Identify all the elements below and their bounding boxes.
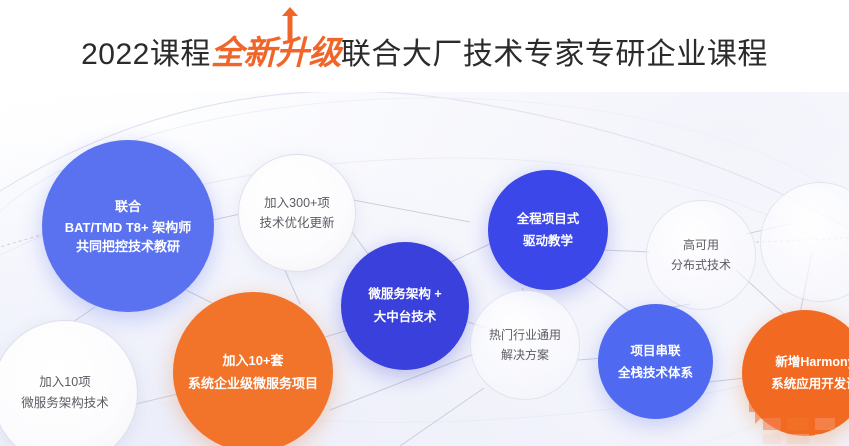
- node-300-tech-updates[interactable]: 加入300+项 技术优化更新: [238, 154, 356, 272]
- node-300-line1: 加入300+项: [264, 193, 330, 213]
- node-ha-line1: 高可用: [683, 235, 719, 255]
- node-project-line2: 驱动教学: [523, 231, 573, 251]
- node-msa-line2: 大中台技术: [374, 307, 437, 328]
- page-title: 2022课程全新升级 联合大厂技术专家专研企业课程: [0, 30, 849, 78]
- node-hot-line2: 解决方案: [501, 345, 549, 365]
- network-graph: 联合 BAT/TMD T8+ 架构师 共同把控技术教研 加入300+项 技术优化…: [0, 92, 849, 446]
- node-hot-line1: 热门行业通用: [489, 325, 561, 345]
- node-harmony-line2: 系统应用开发课: [771, 374, 849, 394]
- node-10item-line1: 加入10项: [39, 372, 90, 393]
- node-10item-line2: 微服务架构技术: [21, 393, 109, 414]
- node-harmony-line1: 新增Harmony: [771, 352, 849, 372]
- node-10set-line1: 加入10+套: [222, 350, 283, 371]
- node-fullstack-line2: 全栈技术体系: [618, 363, 693, 383]
- node-project-driven-teaching[interactable]: 全程项目式 驱动教学: [488, 170, 608, 290]
- node-bat-architects[interactable]: 联合 BAT/TMD T8+ 架构师 共同把控技术教研: [42, 140, 214, 312]
- node-fullstack-system[interactable]: 项目串联 全栈技术体系: [598, 304, 713, 419]
- node-high-availability[interactable]: 高可用 分布式技术: [646, 200, 756, 310]
- title-prefix: 2022课程: [81, 32, 211, 78]
- node-project-line1: 全程项目式: [517, 209, 580, 229]
- node-300-line2: 技术优化更新: [259, 213, 334, 233]
- promo-banner: 2022课程全新升级 联合大厂技术专家专研企业课程: [0, 0, 849, 446]
- node-bat-line2: BAT/TMD T8+ 架构师: [65, 218, 192, 237]
- node-industry-solutions[interactable]: 热门行业通用 解决方案: [470, 290, 580, 400]
- node-msa-line1: 微服务架构 +: [368, 284, 441, 305]
- title-suffix: 联合大厂技术专家专研企业课程: [341, 32, 768, 78]
- node-10set-line2: 系统企业级微服务项目: [188, 373, 318, 394]
- node-bat-line1: 联合: [115, 197, 141, 216]
- corner-watermark-icon: [741, 396, 849, 446]
- title-accent-wrap: 全新升级: [211, 30, 341, 76]
- node-ha-line2: 分布式技术: [671, 255, 731, 275]
- node-microservice-midplatform[interactable]: 微服务架构 + 大中台技术: [341, 242, 469, 370]
- node-fullstack-line1: 项目串联: [630, 341, 680, 361]
- title-accent: 全新升级: [211, 30, 341, 76]
- node-bat-line3: 共同把控技术教研: [76, 237, 180, 256]
- node-10-enterprise-projects[interactable]: 加入10+套 系统企业级微服务项目: [173, 292, 333, 446]
